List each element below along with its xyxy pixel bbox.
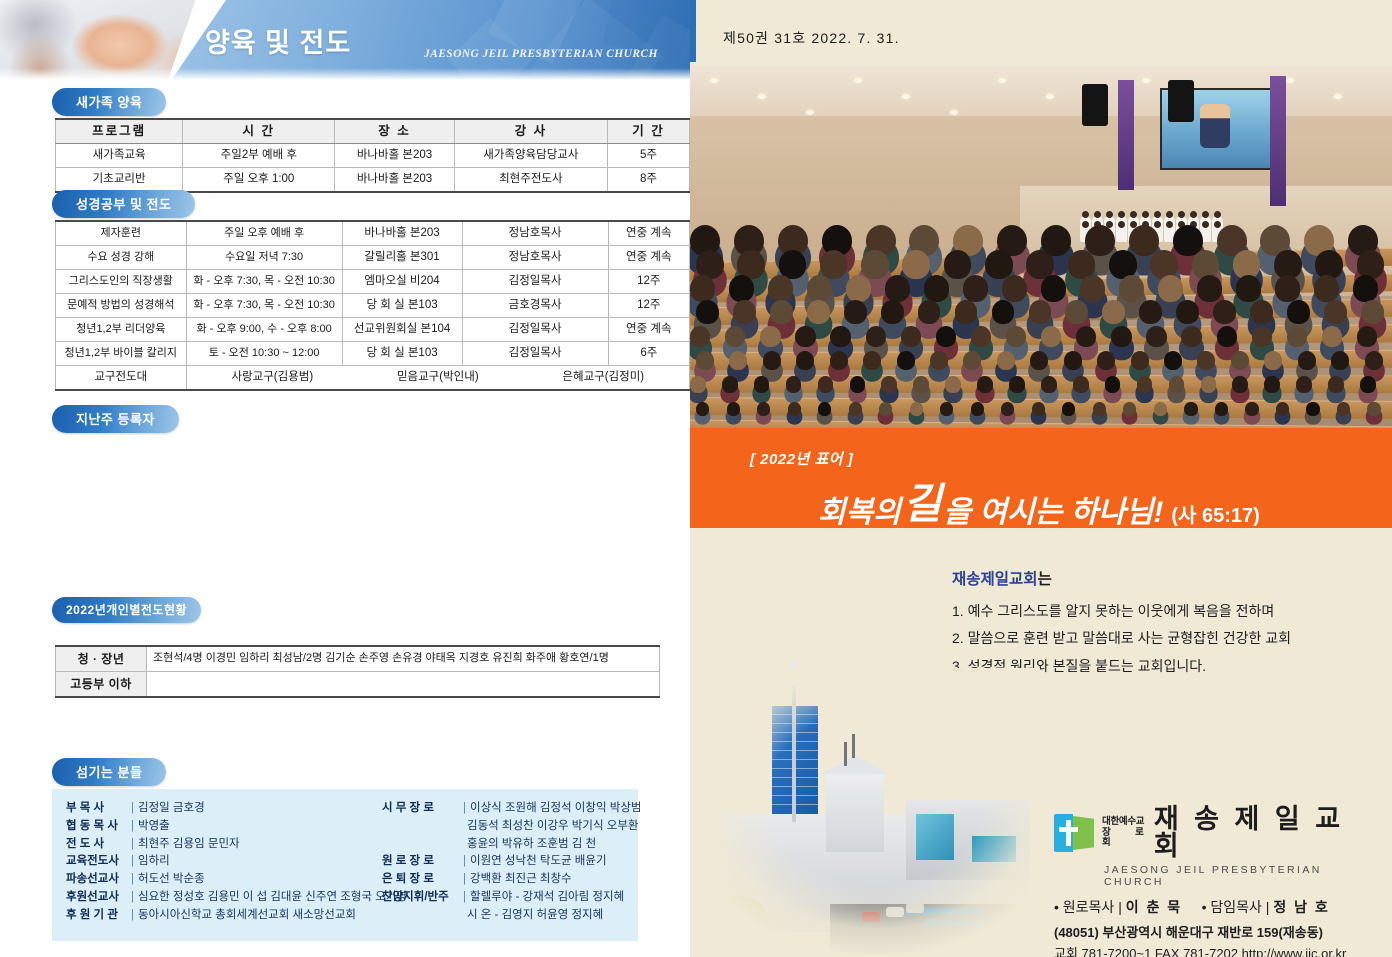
congregant	[1217, 326, 1237, 347]
congregant	[1264, 376, 1280, 392]
congregant	[1080, 275, 1105, 301]
servant-names: 강백환 최진근 최창수	[470, 871, 572, 889]
servant-separator: |	[131, 818, 134, 836]
banner-right	[1270, 76, 1286, 206]
section-label-servants: 섬기는 분들	[52, 758, 166, 786]
congregant	[910, 402, 923, 416]
table-cell: 바나바홀 본203	[342, 221, 462, 246]
congregant	[1139, 300, 1162, 324]
servant-row: 시 온 - 김영지 허윤영 정지혜	[382, 907, 641, 925]
servant-role: 후 원 기 관	[66, 907, 128, 925]
table-cell: 6주	[608, 342, 689, 366]
congregant	[963, 351, 981, 370]
table-cell: 12주	[608, 294, 689, 318]
denomination-line2: 장 로 회	[1102, 828, 1148, 850]
servant-role: 협 동 목 사	[66, 818, 128, 836]
column-header: 장 소	[335, 119, 454, 144]
congregant	[1169, 376, 1185, 392]
congregant	[977, 376, 993, 392]
servant-separator: |	[463, 853, 466, 871]
congregant	[1029, 300, 1052, 324]
congregant	[1041, 376, 1057, 392]
congregant	[1213, 300, 1236, 324]
table-cell: 5주	[608, 144, 690, 168]
congregant	[1085, 225, 1115, 257]
congregant	[897, 351, 915, 370]
table-cell: 선교위원회실 본104	[342, 318, 462, 342]
evangelism-category: 청 · 장년	[56, 646, 147, 672]
section-label-bible: 성경공부 및 전도	[52, 190, 195, 218]
slogan-reference: (사 65:17)	[1171, 505, 1259, 527]
servant-role: 전 도 사	[66, 836, 128, 854]
congregant	[1065, 300, 1088, 324]
evangelism-names: 조현석/4명 이경민 임하리 최성남/2명 김기순 손주영 손유경 야태옥 지경…	[147, 646, 660, 672]
mission-title-tail: 는	[1038, 571, 1052, 588]
pew	[690, 419, 1392, 428]
newfamily-table-wrap: 프로그램시 간장 소강 사기 간 새가족교육주일2부 예배 후바나바홀 본203…	[55, 118, 690, 193]
spine-accent	[690, 0, 696, 62]
table-cell: 금호경목사	[462, 294, 608, 318]
table-cell: 청년1,2부 리더양육	[56, 318, 187, 342]
congregant	[1296, 376, 1312, 392]
table-cell: 화 - 오후 9:00, 수 - 오후 8:00	[186, 318, 342, 342]
servant-separator: |	[463, 889, 466, 907]
column-header: 프로그램	[56, 119, 183, 144]
page-title: 양육 및 전도	[205, 21, 351, 60]
servant-row: 찬양지휘/반주|할렐루야 - 강재석 김아림 정지혜	[382, 889, 641, 907]
senior-pastor-label: • 담임목사 |	[1202, 899, 1270, 915]
parish-teams-cell: 사랑교구(김용범)믿음교구(박인내)은혜교구(김정미)	[186, 366, 689, 391]
congregant	[1337, 402, 1350, 416]
congregant	[1287, 300, 1310, 324]
congregant	[1232, 376, 1248, 392]
table-cell: 최현주전도사	[454, 168, 607, 193]
congregant	[727, 402, 740, 416]
congregant	[795, 326, 815, 347]
parish-team: 은혜교구(김정미)	[562, 371, 644, 384]
servant-names: 김동석 최성찬 이강우 박기식 오부환	[467, 818, 638, 836]
congregant	[1002, 275, 1027, 301]
congregant	[1062, 402, 1075, 416]
congregant	[818, 402, 831, 416]
servant-separator: |	[131, 871, 134, 889]
slogan-text: 회복의길을 여시는 하나님!(사 65:17)	[818, 474, 1260, 535]
congregant	[1184, 402, 1197, 416]
congregant	[729, 351, 747, 370]
congregant	[1176, 300, 1199, 324]
congregant	[1154, 402, 1167, 416]
congregant	[696, 300, 719, 324]
congregant	[1119, 275, 1144, 301]
church-name-korean: 재 송 제 일 교 회	[1154, 806, 1374, 860]
servant-separator: |	[131, 800, 134, 818]
congregant	[971, 402, 984, 416]
congregant	[1131, 351, 1149, 370]
table-cell: 8주	[608, 168, 690, 193]
church-address: (48051) 부산광역시 해운대구 재반로 159(재송동)	[1054, 922, 1374, 941]
table-cell: 당 회 실 본103	[342, 294, 462, 318]
table-cell: 연중 계속	[608, 246, 689, 270]
congregant	[796, 351, 814, 370]
congregant	[1197, 275, 1222, 301]
congregant	[1365, 351, 1383, 370]
congregant	[1201, 376, 1217, 392]
congregant	[1197, 351, 1215, 370]
congregant	[1353, 275, 1378, 301]
congregant	[1129, 225, 1159, 257]
servant-role: 원 로 장 로	[382, 853, 460, 871]
congregant	[1252, 326, 1272, 347]
banner-left	[1118, 80, 1134, 190]
table-row-parish: 교구전도대사랑교구(김용범)믿음교구(박인내)은혜교구(김정미)	[56, 366, 690, 391]
servant-row: 홍윤의 박유하 조훈범 김 천	[382, 836, 641, 854]
servant-role: 찬양지휘/반주	[382, 889, 460, 907]
year-slogan-banner: [ 2022년 표어 ] 회복의길을 여시는 하나님!(사 65:17)	[690, 428, 1392, 528]
congregant	[788, 402, 801, 416]
servant-names: 이원연 성낙천 탁도균 배윤기	[470, 853, 607, 871]
servant-separator: |	[131, 907, 134, 925]
table-row: 문예적 방법의 성경해석화 - 오후 7:30, 목 - 오전 10:30당 회…	[56, 294, 690, 318]
section-label-bible-text: 성경공부 및 전도	[52, 190, 195, 218]
table-cell: 주일 오후 1:00	[183, 168, 335, 193]
pastor-emeritus-name: 이 춘 묵	[1126, 899, 1182, 915]
congregant	[733, 300, 756, 324]
servant-row: 후원선교사|심요한 정성호 김용민 이 섭 김대윤 신주연 조형국 오기영	[66, 889, 407, 907]
congregant	[918, 300, 941, 324]
mission-line: 2. 말씀으로 훈련 받고 말씀대로 사는 균형잡힌 건강한 교회	[952, 625, 1352, 652]
congregant	[722, 376, 738, 392]
congregant	[1041, 275, 1066, 301]
congregant	[1298, 351, 1316, 370]
table-cell: 그리스도인의 직장생활	[56, 270, 187, 294]
congregant	[879, 402, 892, 416]
congregant	[881, 300, 904, 324]
congregant	[807, 300, 830, 324]
right-page: 제50권 31호 2022. 7. 31. [ 2022년 표어 ] 회복의길을…	[690, 0, 1392, 957]
denomination-line1: 대한예수교	[1102, 817, 1148, 828]
congregant	[1146, 326, 1166, 347]
servant-separator: |	[463, 871, 466, 889]
table-cell: 김정일목사	[462, 342, 608, 366]
congregant	[690, 376, 706, 392]
servant-row: 전 도 사|최현주 김용임 문민자	[66, 836, 407, 854]
congregant	[1264, 351, 1282, 370]
denomination-name: 대한예수교 장 로 회	[1102, 817, 1148, 850]
servant-role: 시 무 장 로	[382, 800, 460, 818]
congregant	[945, 376, 961, 392]
mission-church-name: 재송제일교회	[952, 571, 1038, 588]
church-contact: 교회 781-7200~1 FAX 781-7202 http://www.jj…	[1054, 943, 1374, 957]
congregant	[849, 402, 862, 416]
table-cell: 화 - 오후 7:30, 목 - 오전 10:30	[186, 294, 342, 318]
church-building-photo	[710, 668, 1040, 957]
table-cell: 바나바홀 본203	[335, 144, 454, 168]
congregant	[1231, 351, 1249, 370]
congregant	[818, 376, 834, 392]
congregant	[1064, 351, 1082, 370]
table-cell: 청년1,2부 바이블 칼리지	[56, 342, 187, 366]
table-row: 수요 성경 강해수요일 저녁 7:30갈릴리홀 본301정남호목사연중 계속	[56, 246, 690, 270]
column-header: 기 간	[608, 119, 690, 144]
congregant	[1041, 326, 1061, 347]
slogan-highlight: 길	[903, 480, 942, 527]
congregant	[1287, 326, 1307, 347]
congregant	[971, 326, 991, 347]
congregant	[885, 275, 910, 301]
mission-title: 재송제일교회는	[952, 567, 1352, 589]
issue-number: 제50권 31호 2022. 7. 31.	[723, 28, 900, 48]
servant-row: 후 원 기 관|동아시아신학교 총회세계선교회 새소망선교회	[66, 907, 407, 925]
congregant	[1357, 250, 1385, 279]
congregant	[913, 376, 929, 392]
congregant	[997, 351, 1015, 370]
congregant	[936, 326, 956, 347]
church-logo-block: 대한예수교 장 로 회 재 송 제 일 교 회 JAESONG JEIL PRE…	[1054, 806, 1374, 957]
congregant	[1158, 275, 1183, 301]
congregant	[863, 351, 881, 370]
congregant	[861, 250, 889, 279]
table-cell: 기초교리반	[56, 168, 183, 193]
congregant	[985, 250, 1013, 279]
mission-line: 1. 예수 그리스도를 알지 못하는 이웃에게 복음을 전하며	[952, 598, 1352, 625]
section-label-evangelism-text: 2022년개인별전도현황	[52, 597, 201, 623]
table-cell: 엠마오실 비204	[342, 270, 462, 294]
congregant	[1192, 250, 1220, 279]
congregant	[1076, 326, 1096, 347]
servant-role: 교육전도사	[66, 853, 128, 871]
servant-separator: |	[131, 836, 134, 854]
newfamily-table: 프로그램시 간장 소강 사기 간 새가족교육주일2부 예배 후바나바홀 본203…	[55, 118, 690, 193]
servant-names: 홍윤의 박유하 조훈범 김 천	[467, 836, 596, 854]
congregant	[1001, 402, 1014, 416]
servant-names: 허도선 박순종	[138, 871, 205, 889]
congregant	[924, 275, 949, 301]
congregant	[1306, 402, 1319, 416]
table-cell: 바나바홀 본203	[335, 168, 454, 193]
speaker-right	[1168, 80, 1194, 122]
servant-row: 은 퇴 장 로|강백환 최진근 최창수	[382, 871, 641, 889]
table-row: 청년1,2부 바이블 칼리지토 - 오전 10:30 ~ 12:00당 회 실 …	[56, 342, 690, 366]
congregant	[1367, 402, 1380, 416]
table-cell: 화 - 오후 7:30, 목 - 오전 10:30	[186, 270, 342, 294]
servant-row: 파송선교사|허도선 박순종	[66, 871, 407, 889]
congregant	[1105, 376, 1121, 392]
congregant	[1245, 402, 1258, 416]
congregant	[844, 300, 867, 324]
congregation-pews	[690, 241, 1392, 428]
table-cell: 12주	[608, 270, 689, 294]
congregant	[1137, 376, 1153, 392]
servants-right-column: 시 무 장 로|이상식 조원해 김정석 이창익 박상범 김동석 최성찬 이강우 …	[382, 800, 641, 925]
congregant	[955, 300, 978, 324]
congregant	[1164, 351, 1182, 370]
congregant	[1357, 326, 1377, 347]
table-cell: 당 회 실 본103	[342, 342, 462, 366]
congregant	[820, 250, 848, 279]
bible-study-table: 제자훈련주일 오후 예배 후바나바홀 본203정남호목사연중 계속수요 성경 강…	[55, 220, 690, 391]
servant-names: 동아시아신학교 총회세계선교회 새소망선교회	[138, 907, 356, 925]
table-row: 새가족교육주일2부 예배 후바나바홀 본203새가족양육담당교사5주	[56, 144, 690, 168]
table-cell: 정남호목사	[462, 221, 608, 246]
congregant	[902, 250, 930, 279]
congregant	[1032, 402, 1045, 416]
section-label-newfamily-text: 새가족 양육	[52, 88, 166, 116]
servants-panel: 부 목 사|김정일 금호경협 동 목 사|박영출전 도 사|최현주 김용임 문민…	[52, 789, 638, 941]
table-cell: 토 - 오전 10:30 ~ 12:00	[186, 342, 342, 366]
congregant	[1275, 275, 1300, 301]
church-name-english: JAESONG JEIL PRESBYTERIAN CHURCH	[1104, 864, 1374, 888]
congregant	[768, 275, 793, 301]
table-header-row: 프로그램시 간장 소강 사기 간	[56, 119, 690, 144]
table-cell: 수요일 저녁 7:30	[186, 246, 342, 270]
congregant	[1314, 275, 1339, 301]
congregant	[786, 376, 802, 392]
servants-left-column: 부 목 사|김정일 금호경협 동 목 사|박영출전 도 사|최현주 김용임 문민…	[66, 800, 407, 925]
servant-row: 교육전도사|임하리	[66, 853, 407, 871]
evangelism-names	[147, 672, 660, 698]
church-english-name: JAESONG JEIL PRESBYTERIAN CHURCH	[424, 48, 658, 60]
servant-row: 김동석 최성찬 이강우 박기식 오부환	[382, 818, 641, 836]
congregant	[690, 275, 715, 301]
servant-role: 은 퇴 장 로	[382, 871, 460, 889]
pastor-emeritus-label: • 원로목사 |	[1054, 899, 1122, 915]
church-logo-icon	[1054, 814, 1094, 852]
congregant	[940, 402, 953, 416]
table-cell: 정남호목사	[462, 246, 608, 270]
section-label-newfamily: 새가족 양육	[52, 88, 166, 116]
column-header: 강 사	[454, 119, 607, 144]
table-cell: 교구전도대	[56, 366, 187, 391]
left-page: 양육 및 전도 JAESONG JEIL PRESBYTERIAN CHURCH…	[0, 0, 690, 957]
congregant	[1181, 326, 1201, 347]
servant-row: 원 로 장 로|이원연 성낙천 탁도균 배윤기	[382, 853, 641, 871]
servant-row: 협 동 목 사|박영출	[66, 818, 407, 836]
servant-row: 시 무 장 로|이상식 조원해 김정석 이창익 박상범	[382, 800, 641, 818]
table-cell: 문예적 방법의 성경해석	[56, 294, 187, 318]
congregant	[944, 250, 972, 279]
servant-role: 후원선교사	[66, 889, 128, 907]
congregant	[696, 351, 714, 370]
column-header: 시 간	[183, 119, 335, 144]
table-cell: 주일2부 예배 후	[183, 144, 335, 168]
table-row: 청년1,2부 리더양육화 - 오후 9:00, 수 - 오후 8:00선교위원회…	[56, 318, 690, 342]
evangelism-category: 고등부 이하	[56, 672, 147, 698]
servant-names: 시 온 - 김영지 허윤영 정지혜	[467, 907, 603, 925]
table-row: 그리스도인의 직장생활화 - 오후 7:30, 목 - 오전 10:30엠마오실…	[56, 270, 690, 294]
congregant	[690, 326, 710, 347]
slogan-tag: [ 2022년 표어 ]	[750, 448, 853, 469]
servant-row: 부 목 사|김정일 금호경	[66, 800, 407, 818]
evangelism-table-wrap: 청 · 장년조현석/4명 이경민 임하리 최성남/2명 김기순 손주영 손유경 …	[55, 645, 660, 698]
congregant	[1215, 402, 1228, 416]
pastor-line: • 원로목사 | 이 춘 묵 • 담임목사 | 정 남 호	[1054, 897, 1374, 917]
congregant	[807, 275, 832, 301]
congregant	[846, 275, 871, 301]
congregant	[1006, 326, 1026, 347]
parish-team: 믿음교구(박인내)	[397, 371, 479, 384]
congregant	[1093, 402, 1106, 416]
servant-role: 부 목 사	[66, 800, 128, 818]
table-cell: 제자훈련	[56, 221, 187, 246]
bulletin-spread: 양육 및 전도 JAESONG JEIL PRESBYTERIAN CHURCH…	[0, 0, 1392, 957]
table-row: 청 · 장년조현석/4명 이경민 임하리 최성남/2명 김기순 손주영 손유경 …	[56, 646, 660, 672]
congregant	[757, 402, 770, 416]
table-cell: 수요 성경 강해	[56, 246, 187, 270]
table-cell: 새가족교육	[56, 144, 183, 168]
congregant	[901, 326, 921, 347]
servant-names: 최현주 김용임 문민자	[138, 836, 240, 854]
congregant	[1331, 351, 1349, 370]
evangelism-status-table: 청 · 장년조현석/4명 이경민 임하리 최성남/2명 김기순 손주영 손유경 …	[55, 645, 660, 698]
slogan-suffix: 을 여시는 하나님!	[943, 496, 1163, 529]
section-label-servants-text: 섬기는 분들	[52, 758, 166, 786]
servant-names: 임하리	[138, 853, 170, 871]
table-row: 고등부 이하	[56, 672, 660, 698]
slogan-prefix: 회복의	[818, 496, 901, 529]
servant-role: 파송선교사	[66, 871, 128, 889]
table-cell: 연중 계속	[608, 318, 689, 342]
servant-names: 박영출	[138, 818, 170, 836]
table-cell: 갈릴리홀 본301	[342, 246, 462, 270]
servant-names: 심요한 정성호 김용민 이 섭 김대윤 신주연 조형국 오기영	[138, 889, 407, 907]
congregant	[1361, 300, 1384, 324]
congregant	[696, 402, 709, 416]
congregant	[1276, 402, 1289, 416]
congregant	[1111, 326, 1131, 347]
senior-pastor-name: 정 남 호	[1273, 899, 1329, 915]
table-cell: 새가족양육담당교사	[454, 144, 607, 168]
table-cell: 김정일목사	[462, 318, 608, 342]
congregant	[850, 376, 866, 392]
congregant	[830, 351, 848, 370]
page-header: 양육 및 전도 JAESONG JEIL PRESBYTERIAN CHURCH	[0, 0, 690, 82]
congregant	[760, 326, 780, 347]
header-fade	[0, 68, 690, 82]
congregant	[1328, 376, 1344, 392]
congregant	[963, 275, 988, 301]
congregant	[1009, 376, 1025, 392]
congregant	[1123, 402, 1136, 416]
section-label-evangelism: 2022년개인별전도현황	[52, 597, 201, 623]
speaker-left	[1082, 84, 1108, 126]
servant-names: 이상식 조원해 김정석 이창익 박상범	[470, 800, 641, 818]
table-row: 기초교리반주일 오후 1:00바나바홀 본203최현주전도사8주	[56, 168, 690, 193]
section-label-registrants-text: 지난주 등록자	[52, 405, 179, 433]
congregant	[1150, 250, 1178, 279]
congregant	[729, 275, 754, 301]
servant-separator: |	[463, 800, 466, 818]
servant-separator: |	[131, 889, 134, 907]
servant-names: 김정일 금호경	[138, 800, 205, 818]
congregant	[1236, 275, 1261, 301]
congregant	[1250, 300, 1273, 324]
congregant	[1030, 351, 1048, 370]
congregant	[992, 300, 1015, 324]
congregant	[1360, 376, 1376, 392]
congregant	[1097, 351, 1115, 370]
congregant	[1102, 300, 1125, 324]
table-cell: 김정일목사	[462, 270, 608, 294]
servant-separator: |	[131, 853, 134, 871]
congregant	[754, 376, 770, 392]
table-row: 제자훈련주일 오후 예배 후바나바홀 본203정남호목사연중 계속	[56, 221, 690, 246]
congregant	[930, 351, 948, 370]
congregant	[770, 300, 793, 324]
table-cell: 주일 오후 예배 후	[186, 221, 342, 246]
congregant	[1073, 376, 1089, 392]
section-label-registrants: 지난주 등록자	[52, 405, 179, 433]
congregant	[725, 326, 745, 347]
